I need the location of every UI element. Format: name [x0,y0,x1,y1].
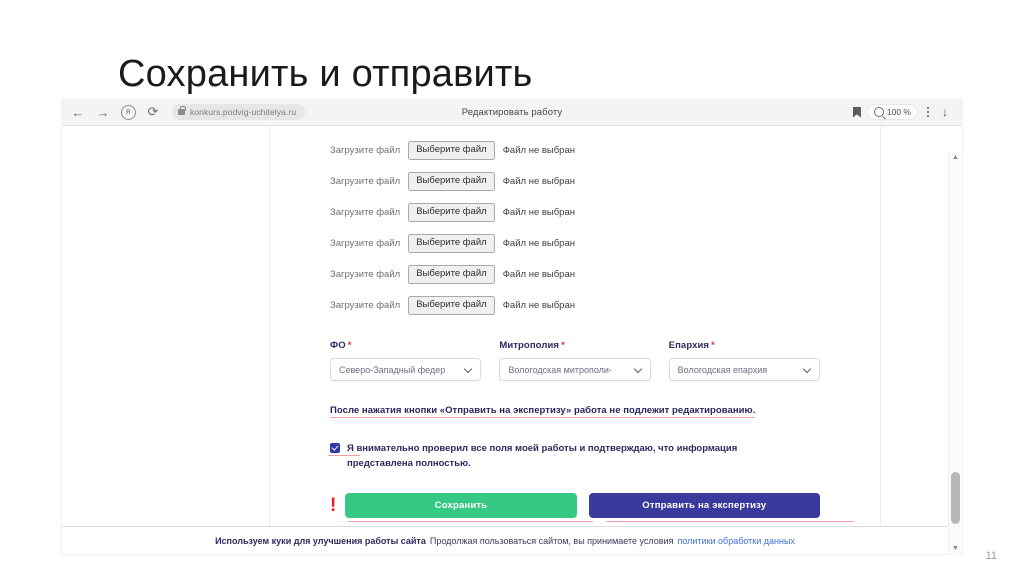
select-field-mitropoliya: Митрополия* Вологодская митрополи- [499,340,650,381]
select-label-eparhiya-text: Епархия [669,340,709,351]
choose-file-button[interactable]: Выберите файл [408,296,495,314]
confirm-checkbox[interactable] [330,443,340,453]
bookmark-icon[interactable] [853,107,861,118]
toolbar-right-group: 100 % ↓ [853,104,956,120]
alert-exclamation-icon: ! [330,496,336,515]
vertical-scrollbar[interactable]: ▲ ▼ [948,152,962,554]
select-label-mitropoliya: Митрополия* [499,340,650,351]
cookie-headline: Используем куки для улучшения работы сай… [215,536,426,546]
form-card: Загрузите файл Выберите файл Файл не выб… [270,126,880,526]
select-label-fo-text: ФО [330,340,346,351]
select-field-fo: ФО* Северо-Западный федер [330,340,481,381]
file-status: Файл не выбран [503,145,575,156]
download-icon[interactable]: ↓ [938,106,952,118]
cookie-policy-link[interactable]: политики обработки данных [677,536,794,546]
save-button-underline [348,521,593,522]
required-star: * [348,340,352,351]
required-star: * [561,340,565,351]
url-text: konkurs.podvig-uchitelya.ru [190,107,296,117]
choose-file-button[interactable]: Выберите файл [408,141,495,159]
required-star: * [711,340,715,351]
choose-file-button[interactable]: Выберите файл [408,265,495,283]
location-select-group: ФО* Северо-Западный федер Митрополия* Во… [330,340,820,381]
select-fo[interactable]: Северо-Западный федер [330,358,481,381]
file-status: Файл не выбран [503,238,575,249]
form-inner: Загрузите файл Выберите файл Файл не выб… [270,126,880,518]
select-mitropoliya-value: Вологодская митрополи- [508,365,630,375]
upload-row: Загрузите файл Выберите файл Файл не выб… [330,262,820,287]
upload-label: Загрузите файл [330,145,400,156]
chevron-down-icon [465,366,472,373]
chevron-down-icon [635,366,642,373]
upload-label: Загрузите файл [330,176,400,187]
upload-label: Загрузите файл [330,269,400,280]
confirm-row: Я внимательно проверил все поля моей раб… [330,442,820,471]
choose-file-button[interactable]: Выберите файл [408,234,495,252]
chevron-down-icon [804,366,811,373]
scroll-up-arrow-icon[interactable]: ▲ [949,152,962,163]
submit-button-underline [606,521,854,522]
file-status: Файл не выбран [503,269,575,280]
confirm-underline [328,455,360,456]
browser-toolbar: ← → я ⟳ konkurs.podvig-uchitelya.ru Реда… [62,99,962,125]
zoom-level-label: 100 % [887,107,911,117]
upload-label: Загрузите файл [330,300,400,311]
upload-label: Загрузите файл [330,238,400,249]
slide-page-number: 11 [986,550,997,562]
file-status: Файл не выбран [503,300,575,311]
page-viewport: Загрузите файл Выберите файл Файл не выб… [62,125,962,554]
select-mitropoliya[interactable]: Вологодская митрополи- [499,358,650,381]
select-label-mitropoliya-text: Митрополия [499,340,559,351]
save-button[interactable]: Сохранить [345,493,576,518]
select-label-eparhiya: Епархия* [669,340,820,351]
choose-file-button[interactable]: Выберите файл [408,172,495,190]
scrollbar-thumb[interactable] [951,472,960,524]
page-title: Сохранить и отправить [118,54,533,96]
file-status: Файл не выбран [503,176,575,187]
cookie-consent-bar: Используем куки для улучшения работы сай… [62,526,948,554]
kebab-menu-icon[interactable] [924,107,932,116]
upload-row: Загрузите файл Выберите файл Файл не выб… [330,293,820,318]
upload-row: Загрузите файл Выберите файл Файл не выб… [330,231,820,256]
select-eparhiya[interactable]: Вологодская епархия [669,358,820,381]
upload-label: Загрузите файл [330,207,400,218]
submit-for-review-button[interactable]: Отправить на экспертизу [589,493,820,518]
home-icon-glyph: я [121,105,136,120]
upload-row: Загрузите файл Выберите файл Файл не выб… [330,138,820,163]
confirm-checkbox-label: Я внимательно проверил все поля моей раб… [347,442,747,471]
select-fo-value: Северо-Западный федер [339,365,461,375]
reload-icon[interactable]: ⟳ [143,102,163,122]
address-bar[interactable]: konkurs.podvig-uchitelya.ru [172,104,305,120]
home-icon[interactable]: я [118,102,138,122]
upload-row: Загрузите файл Выберите файл Файл не выб… [330,169,820,194]
upload-row: Загрузите файл Выберите файл Файл не выб… [330,200,820,225]
forward-arrow-icon[interactable]: → [93,102,113,122]
select-label-fo: ФО* [330,340,481,351]
file-status: Файл не выбран [503,207,575,218]
back-arrow-icon[interactable]: ← [68,102,88,122]
choose-file-button[interactable]: Выберите файл [408,203,495,221]
browser-screenshot: ← → я ⟳ konkurs.podvig-uchitelya.ru Реда… [62,99,962,554]
form-actions: ! Сохранить Отправить на экспертизу [330,493,820,518]
lock-icon [178,109,185,115]
cookie-text: Продолжая пользоваться сайтом, вы приним… [430,536,674,546]
zoom-control[interactable]: 100 % [867,104,918,120]
select-eparhiya-value: Вологодская епархия [678,365,800,375]
zoom-icon [874,107,884,117]
scroll-down-arrow-icon[interactable]: ▼ [949,543,962,554]
select-field-eparhiya: Епархия* Вологодская епархия [669,340,820,381]
submit-warning-notice: После нажатия кнопки «Отправить на экспе… [330,405,755,418]
